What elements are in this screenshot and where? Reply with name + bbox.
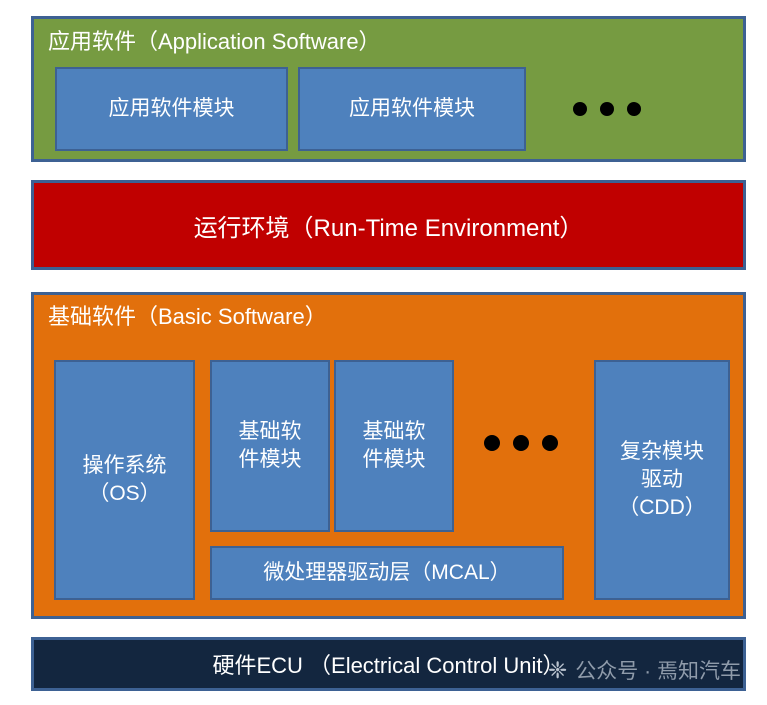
mcal-label: 微处理器驱动层（MCAL）	[263, 559, 510, 587]
basic-software-module-2: 基础软 件模块	[334, 360, 454, 532]
basic-software-module-os: 操作系统 （OS）	[54, 360, 195, 600]
application-software-module-2: 应用软件模块	[298, 67, 526, 151]
os-label-line-2: （OS）	[88, 480, 160, 508]
basic-software-module-mcal: 微处理器驱动层（MCAL）	[210, 546, 564, 600]
bsw-module-2-label-line-1: 基础软	[363, 418, 426, 446]
ellipsis-dot	[600, 102, 614, 116]
basic-software-module-cdd: 复杂模块 驱动 （CDD）	[594, 360, 730, 600]
layer-application-software-title: 应用软件（Application Software）	[48, 29, 381, 55]
ellipsis-dot	[573, 102, 587, 116]
ellipsis-dot	[542, 435, 558, 451]
ellipsis-dot	[513, 435, 529, 451]
os-label-line-1: 操作系统	[83, 452, 167, 480]
layer-basic-software-title: 基础软件（Basic Software）	[48, 304, 327, 330]
watermark: ❈ 公众号 · 焉知汽车	[548, 655, 741, 685]
basic-software-module-1: 基础软 件模块	[210, 360, 330, 532]
application-software-module-1: 应用软件模块	[55, 67, 288, 151]
ellipsis-dot	[484, 435, 500, 451]
application-software-module-2-label: 应用软件模块	[349, 95, 475, 123]
autosar-architecture-diagram: 应用软件（Application Software） 应用软件模块 应用软件模块…	[0, 0, 767, 705]
wechat-icon: ❈	[548, 659, 567, 682]
layer-hardware-ecu-title: 硬件ECU （Electrical Control Unit）	[212, 648, 564, 680]
application-software-ellipsis-icon	[573, 102, 641, 116]
cdd-label-line-3: （CDD）	[618, 494, 706, 522]
application-software-module-1-label: 应用软件模块	[109, 95, 235, 123]
bsw-module-1-label-line-2: 件模块	[239, 446, 302, 474]
cdd-label-line-1: 复杂模块	[620, 438, 704, 466]
layer-basic-software: 基础软件（Basic Software） 操作系统 （OS） 基础软 件模块 基…	[31, 292, 746, 619]
ellipsis-dot	[627, 102, 641, 116]
layer-runtime-environment-title: 运行环境（Run-Time Environment）	[194, 208, 584, 243]
bsw-module-2-label-line-2: 件模块	[363, 446, 426, 474]
bsw-module-1-label-line-1: 基础软	[239, 418, 302, 446]
layer-runtime-environment: 运行环境（Run-Time Environment）	[31, 180, 746, 270]
watermark-text: 公众号 · 焉知汽车	[575, 655, 741, 685]
layer-application-software: 应用软件（Application Software） 应用软件模块 应用软件模块	[31, 16, 746, 162]
cdd-label-line-2: 驱动	[641, 466, 683, 494]
basic-software-ellipsis-icon	[484, 435, 558, 451]
